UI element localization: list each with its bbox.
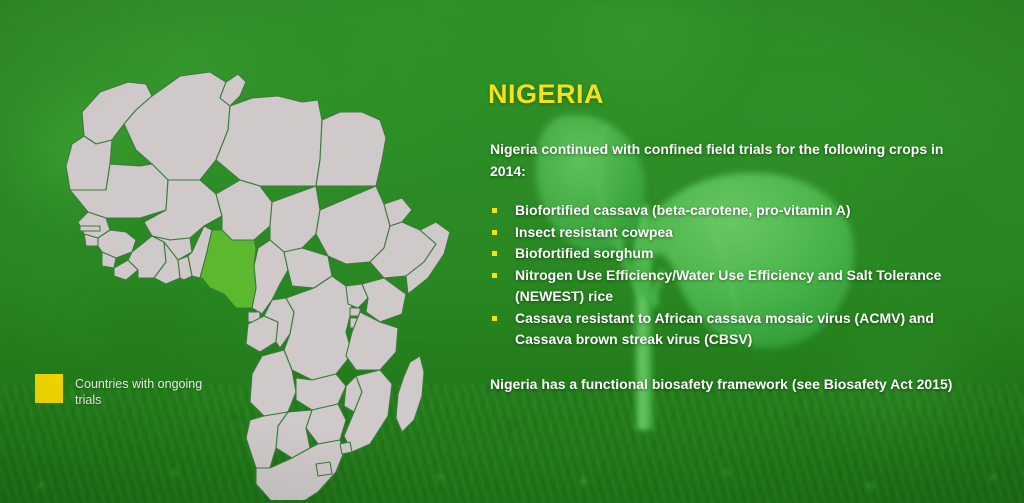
slide-canvas: Countries with ongoing trials NIGERIA Ni… [0,0,1024,503]
vignette-overlay [0,0,1024,503]
